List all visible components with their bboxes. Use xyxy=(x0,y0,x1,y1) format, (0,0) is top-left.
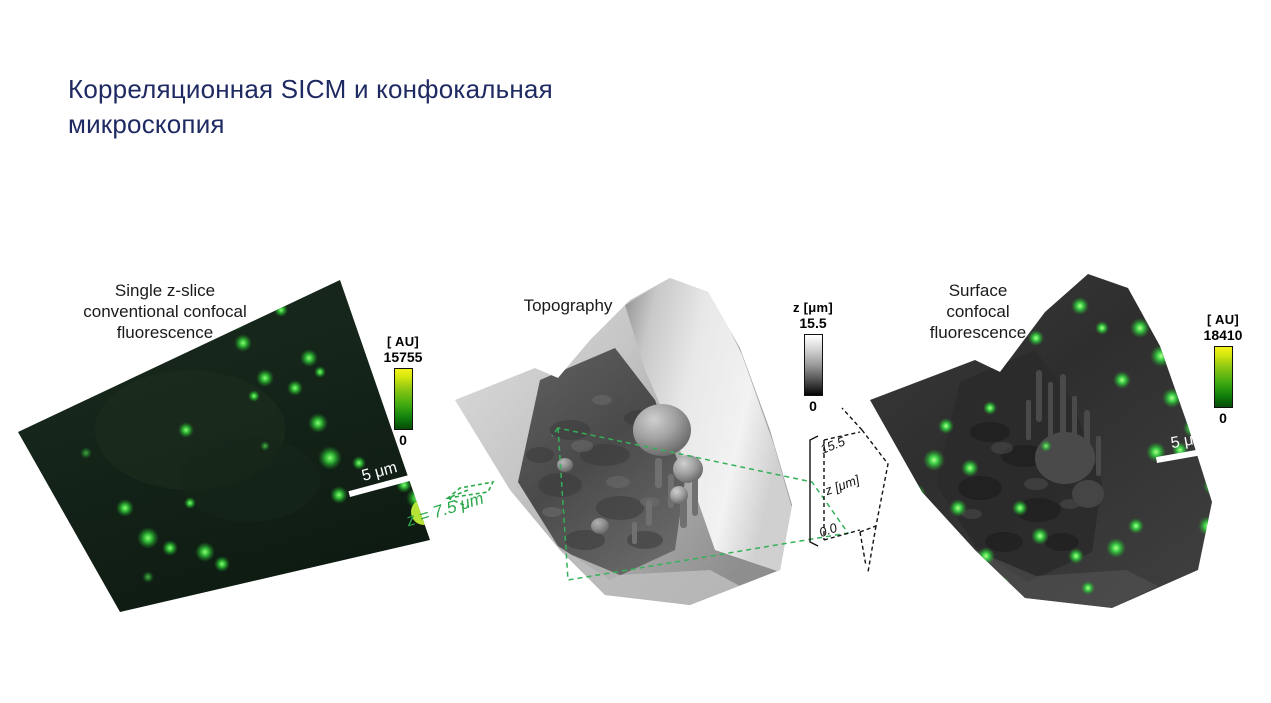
colorbar-unit-label: [ AU] xyxy=(1178,312,1268,327)
page-title: Корреляционная SICM и конфокальная микро… xyxy=(68,72,688,142)
colorbar-min-value: 0 xyxy=(1178,410,1268,427)
colorbar-gradient-strip xyxy=(1214,346,1233,408)
colorbar-panel-3: [ AU] 18410 0 xyxy=(1178,312,1268,427)
panel-caption-topography: Topography xyxy=(498,295,638,316)
colorbar-gradient-strip xyxy=(804,334,823,396)
colorbar-gradient-strip xyxy=(394,368,413,430)
panel-caption-single-z-slice: Single z-slice conventional confocal flu… xyxy=(50,280,280,343)
colorbar-max-value: 18410 xyxy=(1178,327,1268,344)
panel-caption-surface-confocal: Surface confocal fluorescence xyxy=(888,280,1068,343)
slide-canvas: Корреляционная SICM и конфокальная микро… xyxy=(0,0,1271,703)
